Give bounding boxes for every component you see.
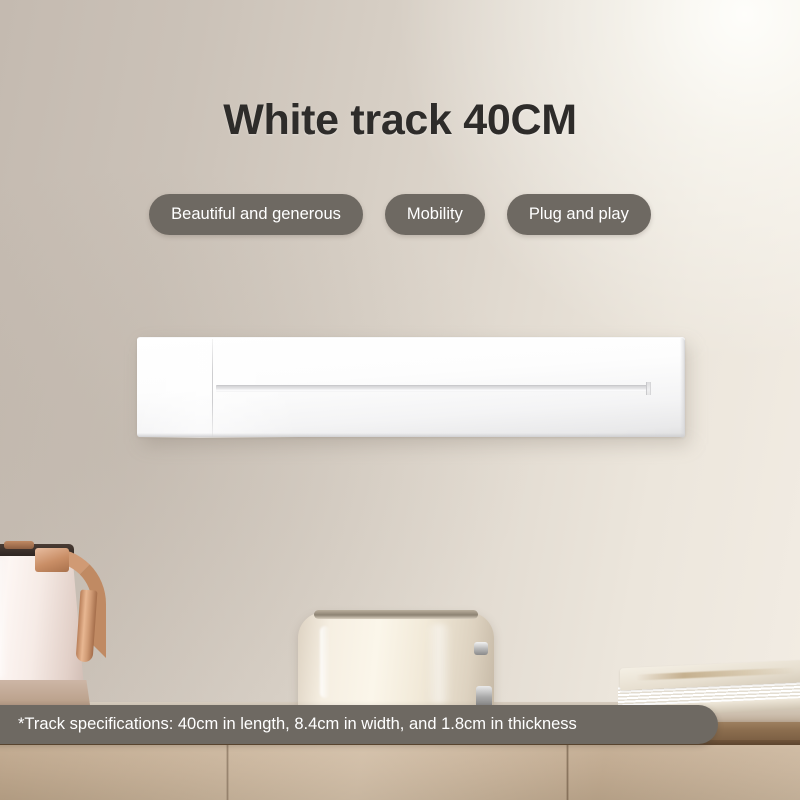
track-groove-terminator	[646, 382, 651, 395]
toaster-bread-slot	[314, 610, 478, 619]
toaster-highlight-right	[426, 624, 452, 704]
track-right-edge	[680, 338, 685, 438]
kettle-handle-mount	[35, 548, 69, 572]
spec-caption-bar: *Track specifications: 40cm in length, 8…	[0, 705, 718, 744]
feature-pill-plug-and-play: Plug and play	[507, 194, 651, 235]
product-marketing-image: White track 40CM Beautiful and generous …	[0, 0, 800, 800]
electric-kettle	[0, 528, 158, 708]
spec-caption-text: *Track specifications: 40cm in length, 8…	[18, 715, 577, 734]
track-groove-slot	[216, 385, 650, 392]
feature-pill-mobility: Mobility	[385, 194, 485, 235]
page-title: White track 40CM	[0, 96, 800, 145]
track-endcap-seam	[212, 339, 213, 437]
feature-pill-row: Beautiful and generous Mobility Plug and…	[0, 194, 800, 235]
toaster	[298, 604, 513, 712]
kettle-highlight	[0, 558, 8, 678]
toaster-chrome-knob	[474, 642, 488, 655]
white-track-product	[137, 337, 685, 439]
toaster-highlight-left	[320, 626, 330, 698]
track-body	[137, 337, 685, 437]
cabinet-light-sheen	[0, 745, 800, 800]
track-bottom-bevel	[137, 433, 685, 437]
feature-pill-beautiful-and-generous: Beautiful and generous	[149, 194, 363, 235]
kettle-lid-knob	[4, 541, 34, 549]
